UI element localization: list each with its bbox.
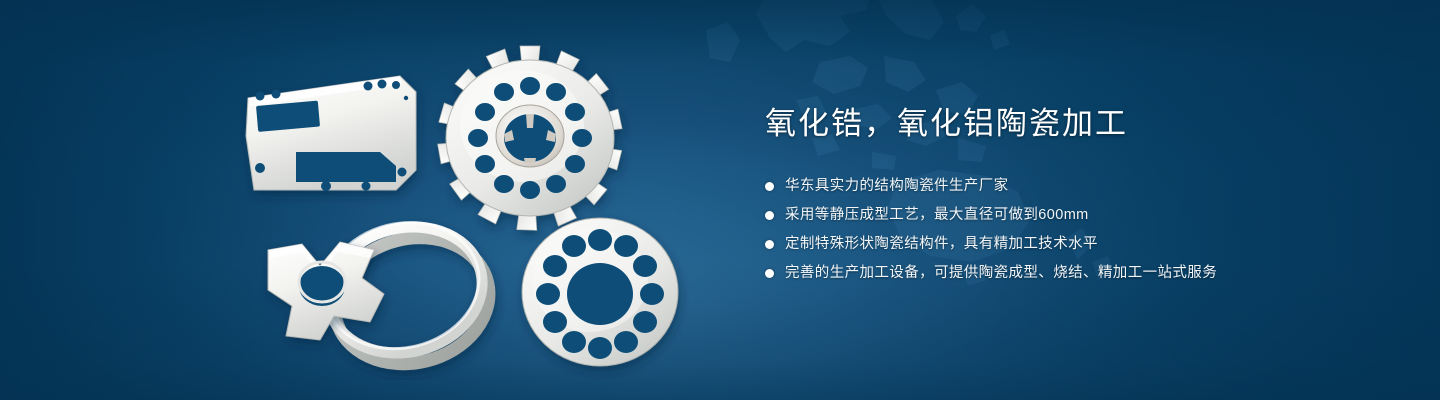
ceramic-flat-plate — [246, 76, 416, 191]
feature-text: 定制特殊形状陶瓷结构件，具有精加工技术水平 — [785, 234, 1098, 254]
bullet-dot-icon — [765, 269, 774, 278]
banner-copy: 氧化锆，氧化铝陶瓷加工 华东具实力的结构陶瓷件生产厂家 采用等静压成型工艺，最大… — [765, 104, 1385, 292]
list-item: 定制特殊形状陶瓷结构件，具有精加工技术水平 — [765, 234, 1385, 254]
ceramic-impeller — [438, 46, 622, 230]
bullet-dot-icon — [765, 182, 774, 191]
banner-feature-list: 华东具实力的结构陶瓷件生产厂家 采用等静压成型工艺，最大直径可做到600mm 定… — [765, 176, 1385, 283]
feature-text: 华东具实力的结构陶瓷件生产厂家 — [785, 176, 1009, 196]
bullet-dot-icon — [765, 211, 774, 220]
list-item: 采用等静压成型工艺，最大直径可做到600mm — [765, 205, 1385, 225]
bullet-dot-icon — [765, 240, 774, 249]
ceramic-cross-plate — [268, 242, 384, 340]
feature-text: 采用等静压成型工艺，最大直径可做到600mm — [785, 205, 1089, 225]
banner-headline: 氧化锆，氧化铝陶瓷加工 — [765, 104, 1385, 144]
product-photo-group — [230, 40, 720, 380]
hero-banner: 氧化锆，氧化铝陶瓷加工 华东具实力的结构陶瓷件生产厂家 采用等静压成型工艺，最大… — [0, 0, 1440, 400]
list-item: 华东具实力的结构陶瓷件生产厂家 — [765, 176, 1385, 196]
feature-text: 完善的生产加工设备，可提供陶瓷成型、烧结、精加工一站式服务 — [785, 263, 1217, 283]
ceramic-perforated-disc — [522, 218, 678, 366]
list-item: 完善的生产加工设备，可提供陶瓷成型、烧结、精加工一站式服务 — [765, 263, 1385, 283]
